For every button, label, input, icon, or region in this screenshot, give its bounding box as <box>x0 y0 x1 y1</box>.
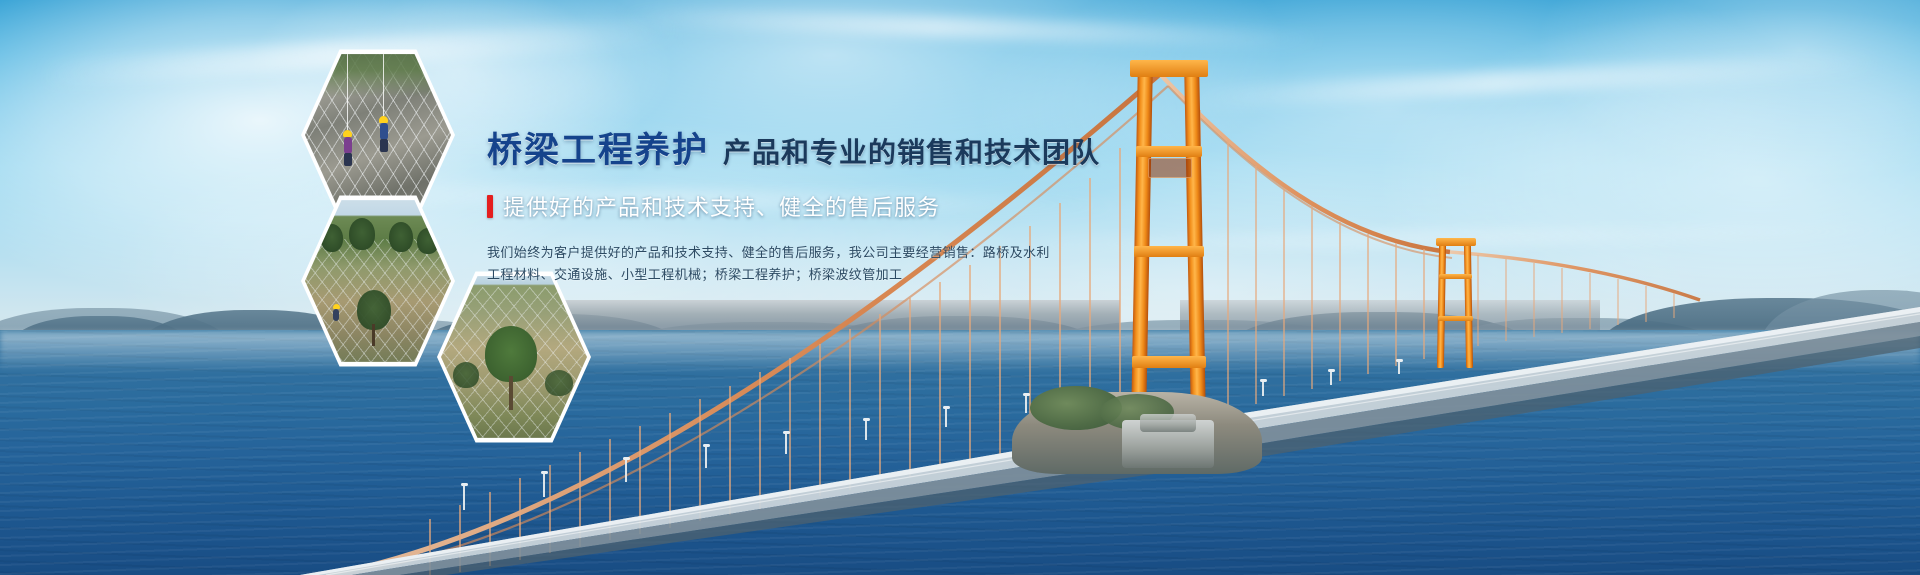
shrub <box>453 362 479 388</box>
paragraph-line-1: 我们始终为客户提供好的产品和技术支持、健全的售后服务，我公司主要经营销售：路桥及… <box>487 242 1047 264</box>
subline-row: 提供好的产品和技术支持、健全的售后服务 <box>487 190 1047 222</box>
hero-banner: 桥梁工程养护 产品和专业的销售和技术团队 提供好的产品和技术支持、健全的售后服务… <box>0 0 1920 575</box>
banner-paragraph: 我们始终为客户提供好的产品和技术支持、健全的售后服务，我公司主要经营销售：路桥及… <box>487 242 1047 286</box>
shrub <box>485 326 537 382</box>
headline-row: 桥梁工程养护 产品和专业的销售和技术团队 <box>487 122 1047 173</box>
red-accent-bar <box>487 195 493 218</box>
hex-photo-hillside-mesh[interactable] <box>301 190 455 372</box>
tree-trunk <box>372 324 375 346</box>
tree <box>349 218 375 250</box>
tree <box>389 222 413 252</box>
banner-copy: 桥梁工程养护 产品和专业的销售和技术团队 提供好的产品和技术支持、健全的售后服务… <box>487 122 1047 286</box>
subline-text: 提供好的产品和技术支持、健全的售后服务 <box>503 190 940 222</box>
paragraph-line-2: 工程材料、交通设施、小型工程机械；桥梁工程养护；桥梁波纹管加工 <box>487 264 1047 286</box>
hex-photo-slope-vegetation-mesh[interactable] <box>437 266 591 448</box>
tree <box>321 224 343 252</box>
shrub <box>545 370 573 396</box>
hex-photo-collage <box>0 0 1920 575</box>
headline-sub: 产品和专业的销售和技术团队 <box>723 131 1100 171</box>
tree <box>417 228 439 254</box>
photo-hillside <box>305 194 451 368</box>
shrub-trunk <box>509 376 513 410</box>
headline-main: 桥梁工程养护 <box>487 122 709 173</box>
